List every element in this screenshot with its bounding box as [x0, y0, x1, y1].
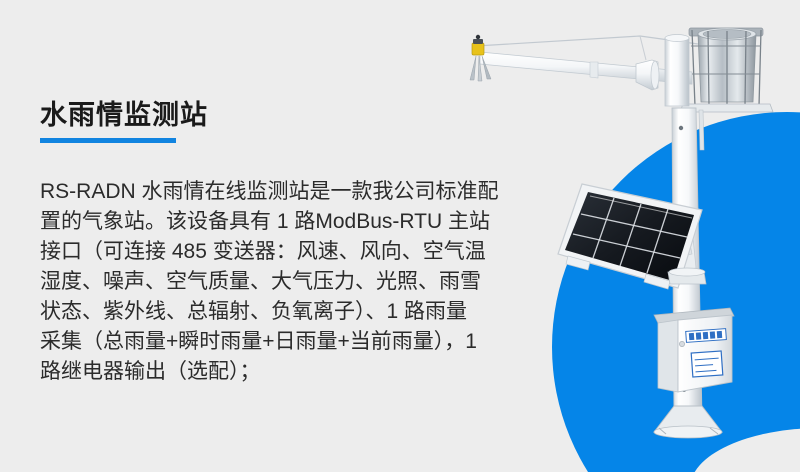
description-line: 采集（总雨量+瞬时雨量+日雨量+当前雨量），1	[40, 327, 520, 357]
control-cabinet-icon	[654, 308, 734, 392]
page-title: 水雨情监测站	[40, 100, 520, 131]
title-underline	[40, 138, 176, 143]
description-line: RS-RADN 水雨情在线监测站是一款我公司标准配	[40, 177, 520, 207]
description-line: 湿度、噪声、空气质量、大气压力、光照、雨雪	[40, 267, 520, 297]
rain-gauge-icon	[680, 28, 773, 112]
product-description: RS-RADN 水雨情在线监测站是一款我公司标准配 置的气象站。该设备具有 1 …	[40, 177, 520, 387]
description-line: 置的气象站。该设备具有 1 路ModBus-RTU 主站	[40, 207, 520, 237]
description-line: 路继电器输出（选配）；	[40, 357, 520, 387]
base-flange-icon	[654, 406, 722, 438]
product-banner: 水雨情监测站 RS-RADN 水雨情在线监测站是一款我公司标准配 置的气象站。该…	[0, 0, 800, 472]
description-line: 状态、紫外线、总辐射、负氧离子）、1 路雨量	[40, 297, 520, 327]
mast-upper-icon	[665, 35, 689, 107]
description-line: 接口（可连接 485 变送器：风速、风向、空气温	[40, 237, 520, 267]
text-column: 水雨情监测站 RS-RADN 水雨情在线监测站是一款我公司标准配 置的气象站。该…	[40, 100, 520, 387]
